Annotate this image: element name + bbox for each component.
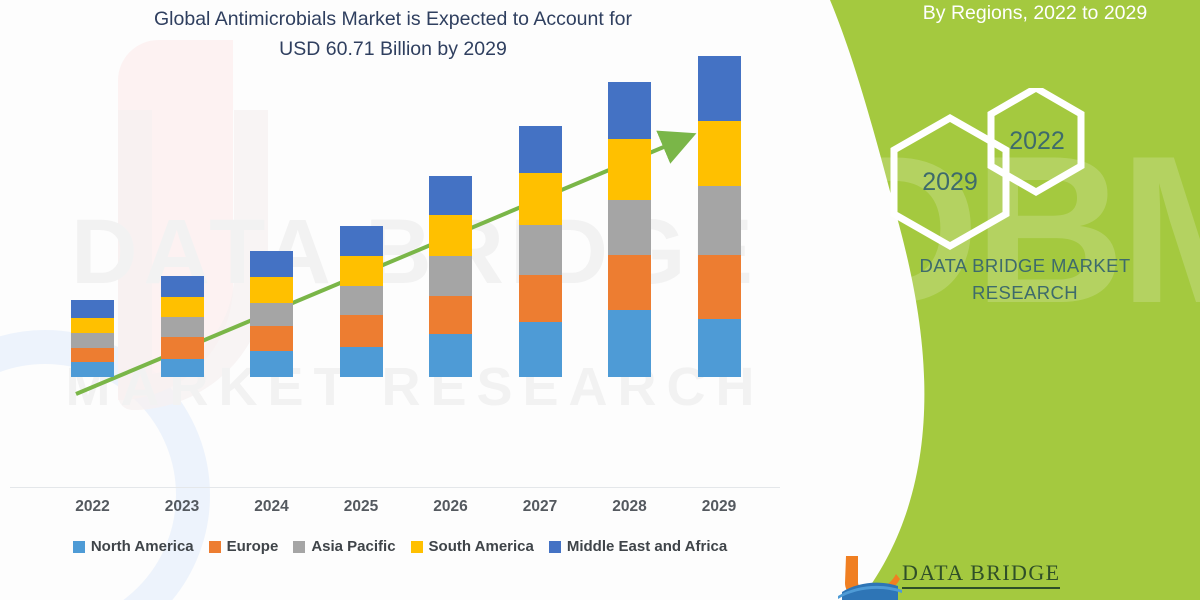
- bar-segment: [71, 362, 114, 377]
- bar-segment: [340, 226, 383, 256]
- bar-segment: [250, 326, 293, 351]
- chart-legend: North AmericaEuropeAsia PacificSouth Ame…: [0, 538, 800, 555]
- bar-segment: [698, 186, 741, 255]
- bar-2027[interactable]: [519, 126, 562, 377]
- bar-segment: [519, 126, 562, 173]
- bar-segment: [608, 200, 651, 255]
- x-axis-label-2023: 2023: [142, 498, 222, 516]
- bar-2025[interactable]: [340, 226, 383, 377]
- x-axis-label-2029: 2029: [679, 498, 759, 516]
- legend-label: North America: [91, 538, 194, 555]
- hex-label-start-year: 2022: [1009, 127, 1065, 155]
- logo: DATA BRIDGE: [836, 552, 1086, 600]
- logo-text: DATA BRIDGE: [902, 560, 1060, 589]
- x-axis-label-2024: 2024: [232, 498, 312, 516]
- infographic-canvas: DATA BRIDGE MARKET RESEARCH DBMR By Regi…: [0, 0, 1200, 600]
- bar-2026[interactable]: [429, 176, 472, 377]
- bar-segment: [429, 256, 472, 296]
- legend-item-asia-pacific[interactable]: Asia Pacific: [293, 538, 395, 555]
- legend-swatch-icon: [73, 541, 85, 553]
- bar-2029[interactable]: [698, 56, 741, 377]
- logo-mark-icon: [836, 552, 906, 600]
- legend-label: Middle East and Africa: [567, 538, 727, 555]
- bar-segment: [161, 337, 204, 360]
- bar-segment: [71, 348, 114, 362]
- bar-segment: [340, 347, 383, 377]
- brand-company-line-2: RESEARCH: [860, 279, 1190, 306]
- legend-item-europe[interactable]: Europe: [209, 538, 279, 555]
- legend-swatch-icon: [411, 541, 423, 553]
- bar-segment: [608, 310, 651, 377]
- bar-segment: [161, 317, 204, 336]
- hexagon-group: 2029 2022: [858, 88, 1158, 248]
- legend-item-middle-east-and-africa[interactable]: Middle East and Africa: [549, 538, 727, 555]
- legend-swatch-icon: [293, 541, 305, 553]
- legend-swatch-icon: [549, 541, 561, 553]
- bar-segment: [519, 275, 562, 322]
- legend-label: Europe: [227, 538, 279, 555]
- bar-segment: [608, 255, 651, 310]
- bar-segment: [161, 359, 204, 377]
- bar-segment: [71, 333, 114, 348]
- legend-item-north-america[interactable]: North America: [73, 538, 194, 555]
- bar-segment: [429, 334, 472, 377]
- bar-segment: [340, 286, 383, 315]
- bar-segment: [250, 251, 293, 277]
- bar-segment: [250, 277, 293, 303]
- bar-segment: [71, 300, 114, 318]
- bar-segment: [429, 176, 472, 215]
- chart-plot-area: 20222023202420252026202720282029 North A…: [0, 0, 810, 600]
- legend-swatch-icon: [209, 541, 221, 553]
- bar-segment: [698, 255, 741, 319]
- bar-2023[interactable]: [161, 276, 204, 377]
- bar-segment: [519, 322, 562, 377]
- bar-segment: [519, 225, 562, 275]
- bar-2022[interactable]: [71, 300, 114, 377]
- bar-2024[interactable]: [250, 251, 293, 377]
- x-axis-label-2027: 2027: [500, 498, 580, 516]
- hex-label-end-year: 2029: [922, 168, 978, 196]
- legend-label: Asia Pacific: [311, 538, 395, 555]
- bar-segment: [71, 318, 114, 333]
- brand-company-line-1: DATA BRIDGE MARKET: [860, 252, 1190, 279]
- brand-panel: DBMR By Regions, 2022 to 2029 2029 2022 …: [800, 0, 1200, 600]
- bar-segment: [161, 276, 204, 297]
- x-axis-label-2026: 2026: [411, 498, 491, 516]
- panel-subtitle: By Regions, 2022 to 2029: [870, 2, 1200, 25]
- bar-segment: [608, 139, 651, 200]
- bar-segment: [608, 82, 651, 139]
- bar-segment: [698, 319, 741, 377]
- bar-segment: [519, 173, 562, 225]
- bar-segment: [340, 315, 383, 347]
- bar-segment: [429, 215, 472, 256]
- legend-item-south-america[interactable]: South America: [411, 538, 534, 555]
- bar-segment: [250, 303, 293, 326]
- bar-segment: [698, 121, 741, 186]
- bar-segment: [250, 351, 293, 377]
- bar-segment: [429, 296, 472, 334]
- x-axis-label-2022: 2022: [53, 498, 133, 516]
- bar-segment: [698, 56, 741, 122]
- bar-2028[interactable]: [608, 82, 651, 377]
- bar-segment: [340, 256, 383, 286]
- brand-company-name: DATA BRIDGE MARKET RESEARCH: [860, 252, 1190, 306]
- x-axis-label-2028: 2028: [590, 498, 670, 516]
- bar-segment: [161, 297, 204, 317]
- legend-label: South America: [429, 538, 534, 555]
- x-axis-labels: 20222023202420252026202720282029: [0, 498, 800, 526]
- bar-series-group: [0, 0, 800, 490]
- x-axis-label-2025: 2025: [321, 498, 401, 516]
